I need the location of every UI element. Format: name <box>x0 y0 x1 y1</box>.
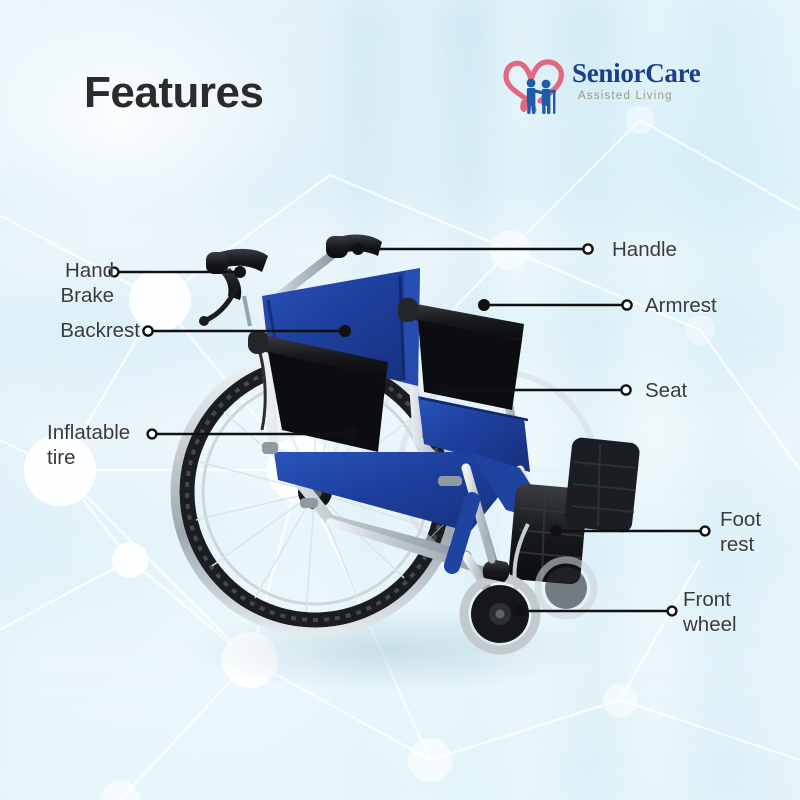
callout-label-armrest[interactable]: Armrest <box>645 293 717 318</box>
leader-endpoint-foot-rest <box>550 525 562 537</box>
leader-endpoint-seat <box>438 384 450 396</box>
leader-endpoint-inflatable-tire <box>345 428 358 441</box>
leader-endpoint-backrest <box>339 325 351 337</box>
leader-marker-backrest <box>143 326 152 335</box>
callout-label-handle[interactable]: Handle <box>612 237 677 262</box>
leader-endpoint-armrest <box>478 299 490 311</box>
leader-endpoint-hand-brake <box>234 266 246 278</box>
leader-marker-handle <box>583 244 592 253</box>
leader-marker-foot-rest <box>701 527 710 536</box>
leader-marker-armrest <box>622 300 631 309</box>
leader-marker-seat <box>621 385 630 394</box>
leader-marker-front-wheel <box>668 607 677 616</box>
leader-endpoint-handle <box>352 243 364 255</box>
callout-label-backrest[interactable]: Backrest <box>0 318 140 343</box>
feature-diagram-canvas: Features SeniorCare Assisted Living <box>0 0 800 800</box>
callout-label-seat[interactable]: Seat <box>645 378 687 403</box>
leader-endpoint-front-wheel <box>515 606 526 617</box>
callout-label-front-wheel[interactable]: Front wheel <box>683 587 737 637</box>
callout-label-foot-rest[interactable]: Foot rest <box>720 507 761 557</box>
callout-label-inflatable-tire[interactable]: Inflatable tire <box>0 420 142 470</box>
leader-marker-inflatable-tire <box>148 430 157 439</box>
callout-label-hand-brake[interactable]: Hand Brake <box>34 258 114 308</box>
